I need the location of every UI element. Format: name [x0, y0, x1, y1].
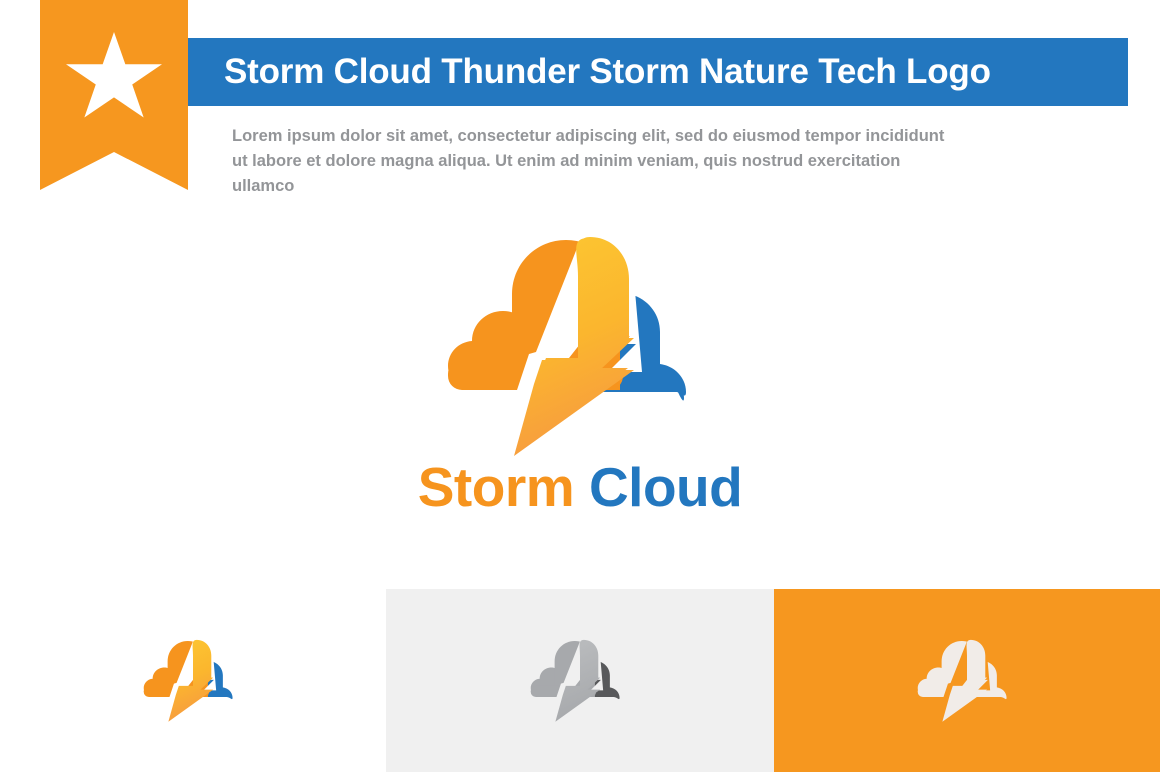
header-ribbon	[40, 0, 188, 190]
variant-panel-reversed	[774, 589, 1160, 772]
logo-variant-row	[0, 589, 1160, 772]
variant-panel-full-color	[0, 589, 386, 772]
star-icon	[66, 32, 162, 124]
page-title: Storm Cloud Thunder Storm Nature Tech Lo…	[188, 52, 991, 92]
logo-mark-primary	[430, 232, 730, 462]
wordmark-primary: Storm	[418, 456, 574, 518]
logo-mark-grayscale	[524, 625, 636, 737]
description-text: Lorem ipsum dolor sit amet, consectetur …	[232, 124, 962, 199]
variant-panel-grayscale	[386, 589, 774, 772]
title-bar: Storm Cloud Thunder Storm Nature Tech Lo…	[188, 38, 1128, 106]
logo-mark-reversed	[911, 625, 1023, 737]
wordmark-secondary: Cloud	[589, 456, 742, 518]
logo-mark-full-color	[137, 625, 249, 737]
logo-wordmark: Storm Cloud	[0, 455, 1160, 519]
